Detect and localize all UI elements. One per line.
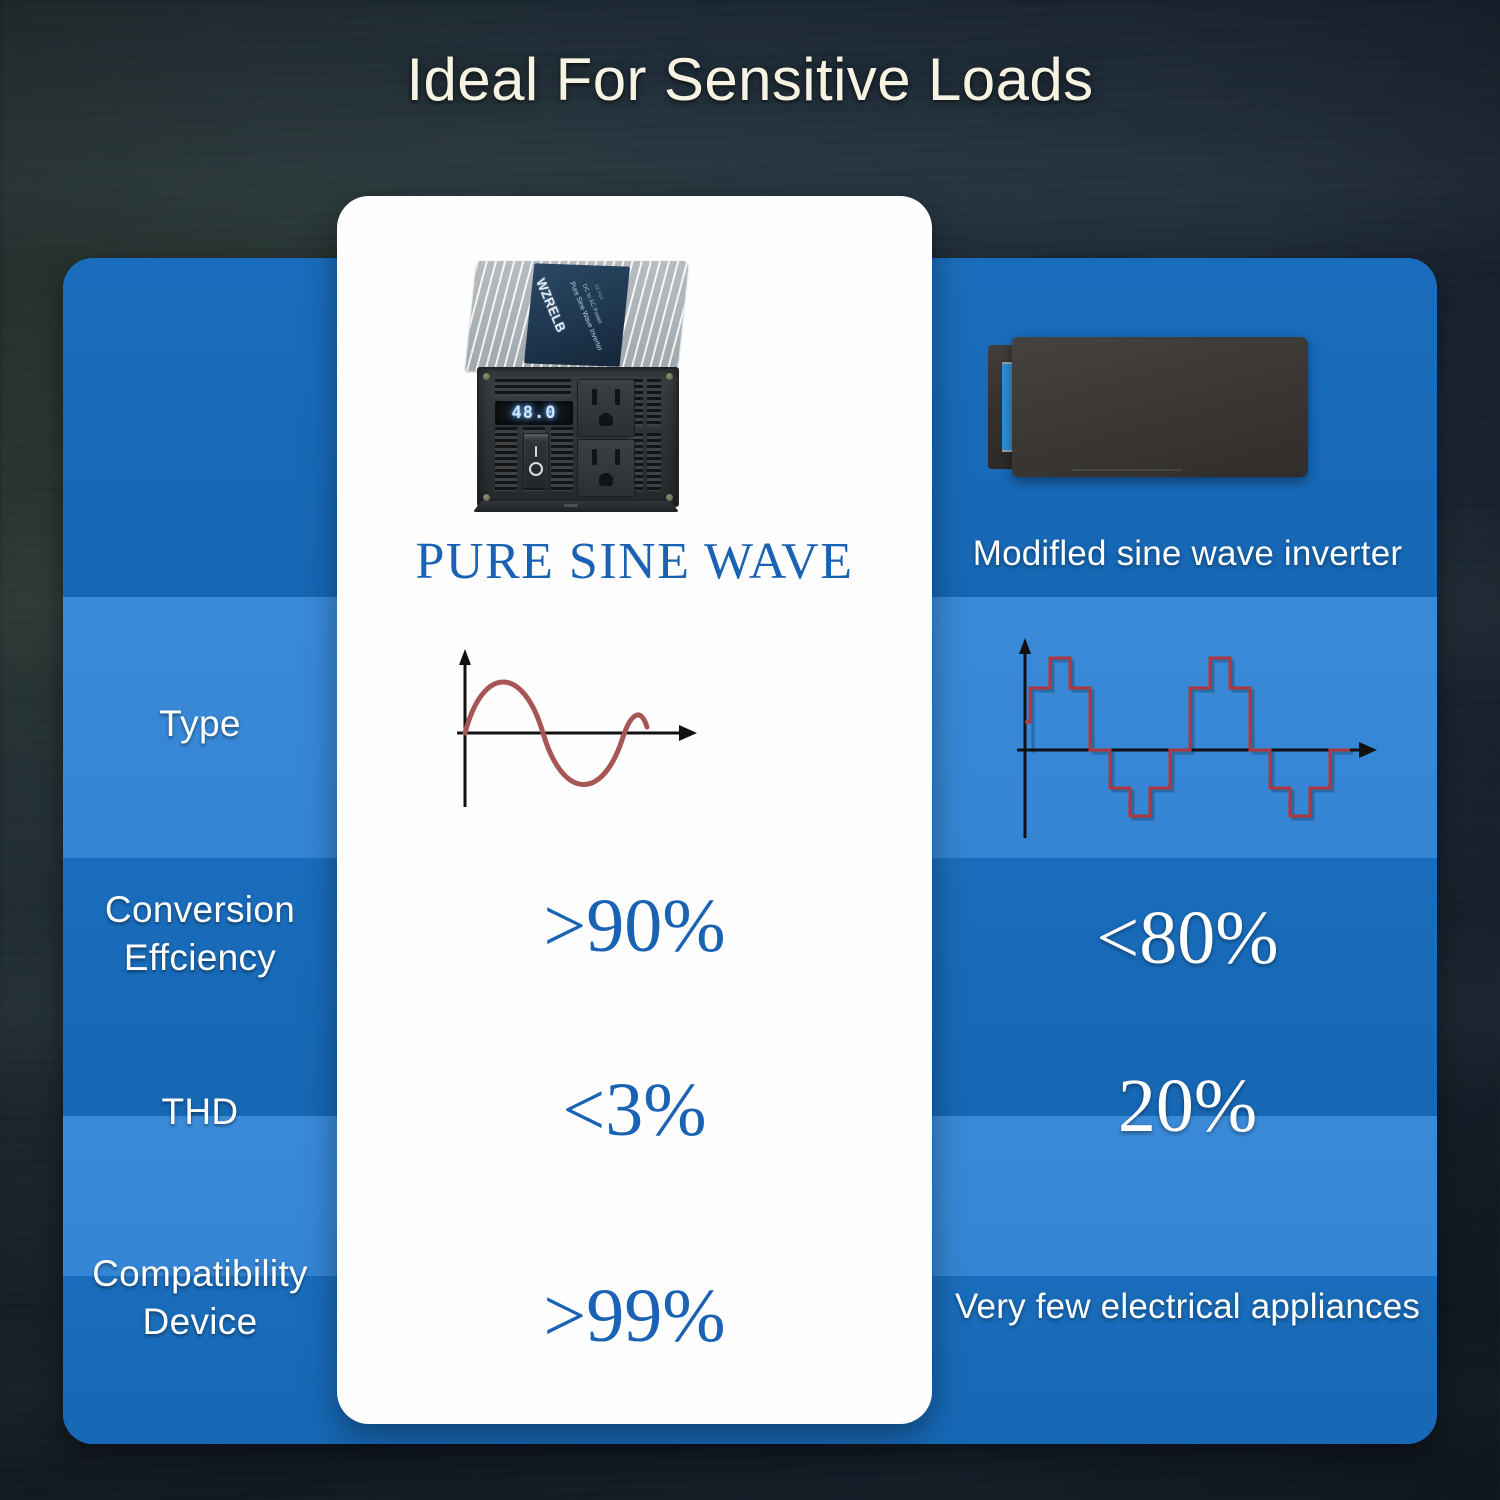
value-thd-pure: <3%	[337, 1072, 932, 1148]
inverter-box-body	[1012, 337, 1308, 477]
vent-slots-right-4	[647, 433, 661, 491]
vent-slots-left-3	[551, 427, 573, 491]
value-thd-modified: 20%	[940, 1068, 1435, 1144]
inverter-brand-label: WZRELB Pure Sine Wave Inverter DC to AC …	[524, 263, 630, 366]
screw-icon	[666, 494, 673, 501]
voltage-display: 48.0	[495, 401, 573, 425]
value-compatibility-pure: >99%	[337, 1278, 932, 1354]
outlet-slot-right	[615, 389, 620, 405]
page-title: Ideal For Sensitive Loads	[0, 48, 1500, 111]
vent-slots-top	[495, 379, 571, 397]
infographic-root: Ideal For Sensitive Loads Modifled sine …	[0, 0, 1500, 1500]
inverter-mounting-base	[473, 501, 679, 512]
screw-icon	[483, 373, 490, 380]
screw-icon	[666, 373, 673, 380]
row-label-compatibility-device: Compatibility Device	[63, 1250, 337, 1346]
modified-sine-wave-chart	[995, 630, 1395, 850]
brand-text: WZRELB	[533, 276, 569, 335]
value-efficiency-pure: >90%	[337, 888, 932, 964]
modified-sine-wave-inverter-image	[988, 337, 1308, 477]
row-label-type: Type	[63, 700, 337, 748]
inverter-front-panel: 48.0	[477, 367, 679, 507]
ac-outlet-bottom	[577, 439, 635, 497]
outlet-ground-pin	[599, 413, 613, 426]
outlet-ground-pin	[599, 473, 613, 486]
pure-sine-wave-chart	[435, 645, 735, 825]
outlet-slot-left	[592, 389, 597, 405]
value-efficiency-modified: <80%	[940, 900, 1435, 976]
pure-sine-wave-heading: PURE SINE WAVE	[337, 532, 932, 591]
row-label-conversion-efficiency: Conversion Effciency	[63, 886, 337, 982]
value-compatibility-modified: Very few electrical appliances	[940, 1285, 1435, 1329]
inverter-box-seam	[1072, 469, 1182, 471]
outlet-slot-left	[592, 449, 597, 465]
screw-icon	[483, 494, 490, 501]
switch-off-marker-icon	[529, 462, 543, 476]
ac-outlet-top	[577, 379, 635, 437]
vent-slots-right-2	[647, 379, 661, 427]
pure-sine-wave-inverter-image: WZRELB Pure Sine Wave Inverter DC to AC …	[463, 255, 693, 520]
voltage-value: 48.0	[512, 403, 557, 423]
label-line-3: CE FCC	[592, 284, 605, 302]
modified-sine-caption: Modifled sine wave inverter	[940, 534, 1435, 574]
power-switch[interactable]	[523, 433, 549, 489]
vent-slots-left-1	[495, 427, 517, 491]
outlet-slot-right	[615, 449, 620, 465]
row-label-thd: THD	[63, 1088, 337, 1136]
switch-on-marker-icon	[535, 446, 537, 457]
